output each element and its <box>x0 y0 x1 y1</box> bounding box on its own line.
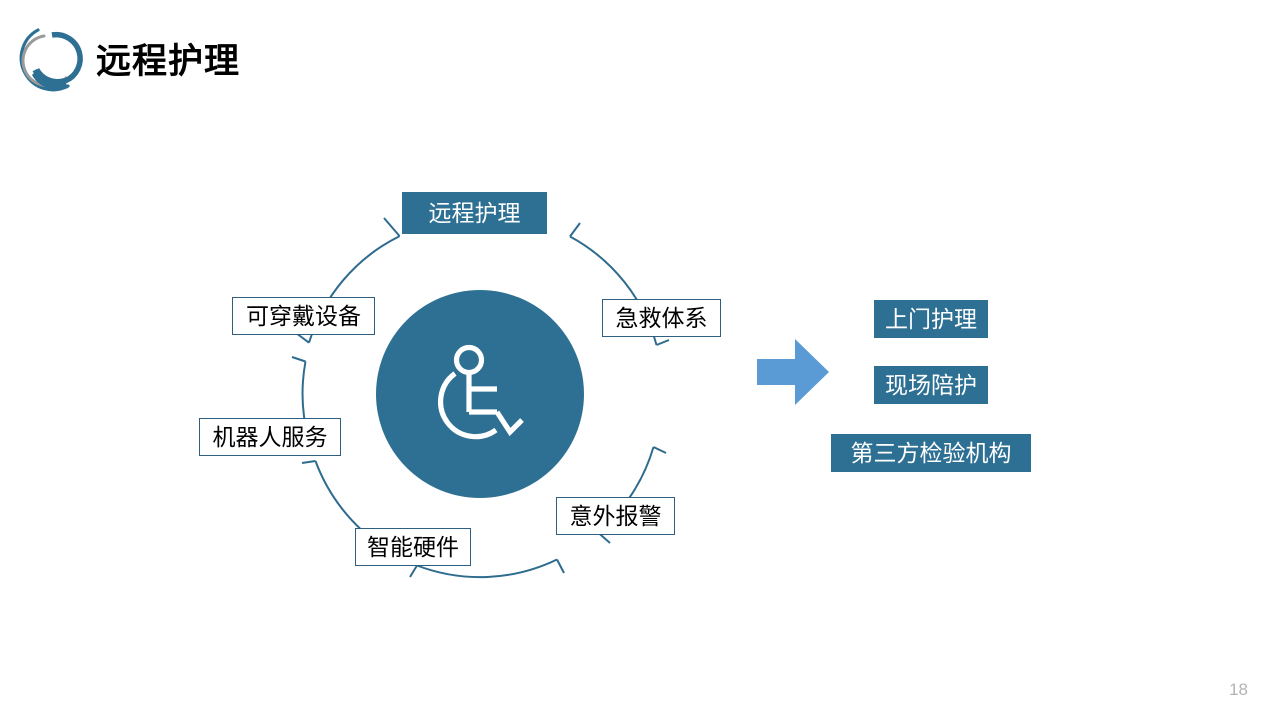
page-number: 18 <box>1229 681 1248 698</box>
right-arrow-icon <box>757 339 829 405</box>
outcome-third-party-inspection-agency[interactable]: 第三方检验机构 <box>831 434 1031 472</box>
outcome-onsite-companion-care[interactable]: 现场陪护 <box>874 366 988 404</box>
diagram-hub <box>376 290 584 498</box>
slide-canvas: 远程护理 <box>0 0 1280 720</box>
wheelchair-accessibility-icon <box>424 338 536 450</box>
callout-robot-service[interactable]: 机器人服务 <box>199 418 341 456</box>
callout-emergency-system[interactable]: 急救体系 <box>602 299 721 337</box>
brand-arc-logo-icon <box>8 18 90 100</box>
callout-accident-alarm[interactable]: 意外报警 <box>556 497 675 535</box>
slide-header: 远程护理 <box>0 0 1280 130</box>
page-title: 远程护理 <box>96 41 240 83</box>
callout-remote-care[interactable]: 远程护理 <box>402 192 547 234</box>
callout-smart-hardware[interactable]: 智能硬件 <box>355 528 471 566</box>
outcome-home-visit-nursing[interactable]: 上门护理 <box>874 300 988 338</box>
callout-wearable-devices[interactable]: 可穿戴设备 <box>232 297 375 335</box>
